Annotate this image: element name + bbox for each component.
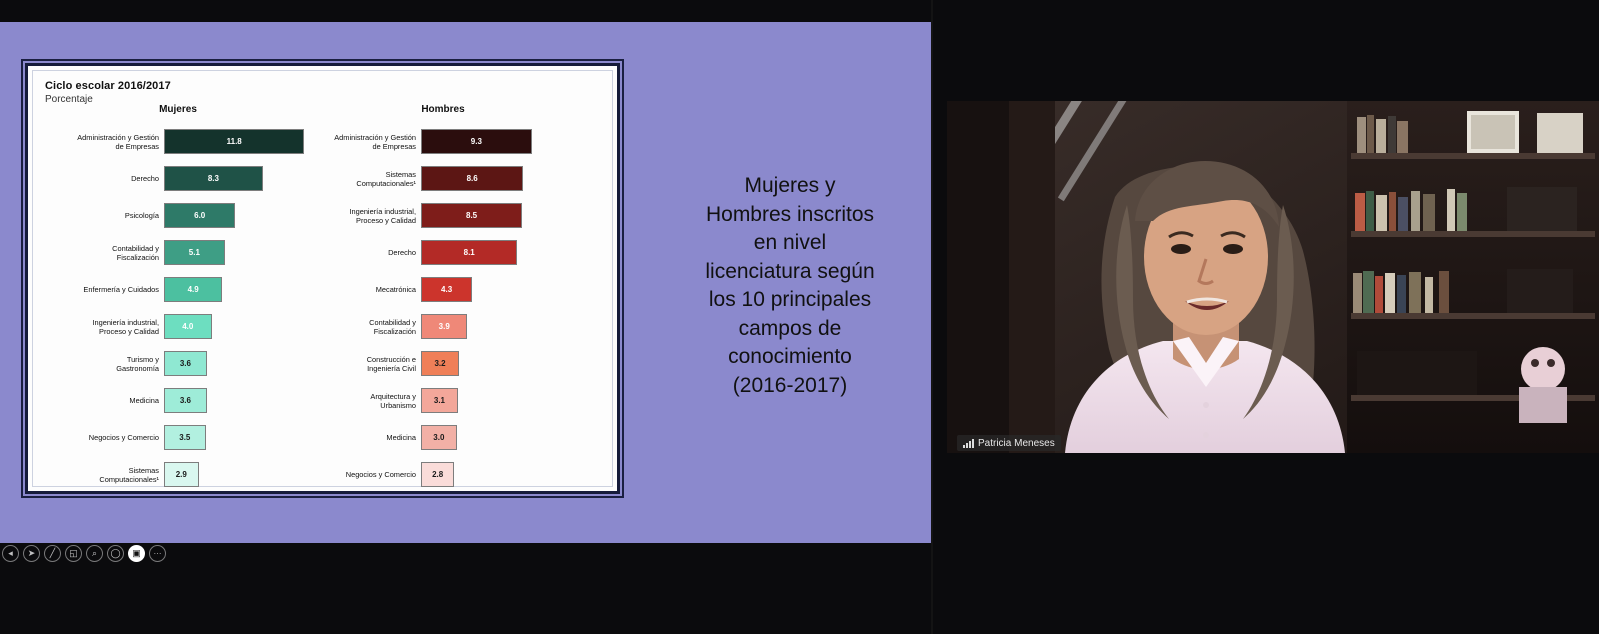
bar: 3.9 xyxy=(421,314,467,339)
bar-value-label: 2.8 xyxy=(432,470,443,479)
caption-line: los 10 principales xyxy=(655,286,925,315)
bar-row: Administración y Gestión de Empresas9.3 xyxy=(333,123,623,160)
video-frame-image xyxy=(947,101,1599,453)
bar: 8.1 xyxy=(421,240,517,265)
bar-row: Turismo y Gastronomía3.6 xyxy=(37,345,329,382)
bar-category-label: Construcción e Ingeniería Civil xyxy=(333,355,421,373)
bar-value-label: 9.3 xyxy=(471,137,482,146)
bar: 3.6 xyxy=(164,388,207,413)
bar-category-label: Contabilidad y Fiscalización xyxy=(37,244,164,262)
bar-value-label: 3.2 xyxy=(434,359,445,368)
column-header-men: Hombres xyxy=(388,104,498,115)
bar-category-label: Derecho xyxy=(37,174,164,183)
bar-row: Medicina3.0 xyxy=(333,419,623,456)
bar: 4.9 xyxy=(164,277,222,302)
pen-icon[interactable]: ╱ xyxy=(44,545,61,562)
slide-title: Ciclo escolar 2016/2017 xyxy=(45,80,171,92)
bar: 11.8 xyxy=(164,129,304,154)
caption-line: Mujeres y xyxy=(655,172,925,201)
bar-row: Negocios y Comercio2.8 xyxy=(333,456,623,493)
bar-category-label: Ingeniería industrial, Proceso y Calidad xyxy=(37,318,164,336)
more-icon[interactable]: ··· xyxy=(149,545,166,562)
bar-row: Arquitectura y Urbanismo3.1 xyxy=(333,382,623,419)
bar: 3.1 xyxy=(421,388,458,413)
bar-row: Construcción e Ingeniería Civil3.2 xyxy=(333,345,623,382)
column-header-women: Mujeres xyxy=(123,104,233,115)
bar: 3.2 xyxy=(421,351,459,376)
bar: 4.3 xyxy=(421,277,472,302)
bar: 5.1 xyxy=(164,240,225,265)
caption-line: (2016-2017) xyxy=(655,372,925,401)
zoom-icon[interactable]: ⌕ xyxy=(86,545,103,562)
participant-name: Patricia Meneses xyxy=(978,438,1055,449)
bar-value-label: 8.1 xyxy=(464,248,475,257)
bar-value-label: 8.6 xyxy=(467,174,478,183)
bar-row: Contabilidad y Fiscalización5.1 xyxy=(37,234,329,271)
bar-value-label: 3.9 xyxy=(439,322,450,331)
bar-value-label: 3.0 xyxy=(433,433,444,442)
annotation-toolbar[interactable]: ◂➤╱◱⌕◯▣··· xyxy=(2,542,166,564)
video-pane[interactable]: Patricia Meneses xyxy=(933,0,1599,634)
bar-row: Derecho8.1 xyxy=(333,234,623,271)
bar-category-label: Administración y Gestión de Empresas xyxy=(37,133,164,151)
bar: 3.5 xyxy=(164,425,206,450)
bar: 3.0 xyxy=(421,425,457,450)
shape-icon[interactable]: ◯ xyxy=(107,545,124,562)
bar-row: Sistemas Computacionales¹2.9 xyxy=(37,456,329,493)
bar-panel-women: Administración y Gestión de Empresas11.8… xyxy=(37,123,329,493)
bar-category-label: Psicología xyxy=(37,211,164,220)
bar-value-label: 3.6 xyxy=(180,359,191,368)
bar-row: Sistemas Computacionales¹8.6 xyxy=(333,160,623,197)
bar-value-label: 4.9 xyxy=(188,285,199,294)
bar-category-label: Sistemas Computacionales¹ xyxy=(333,170,421,188)
bar: 8.3 xyxy=(164,166,263,191)
bar-category-label: Sistemas Computacionales¹ xyxy=(37,466,164,484)
bar-category-label: Mecatrónica xyxy=(333,285,421,294)
bar-panel-men: Administración y Gestión de Empresas9.3S… xyxy=(333,123,623,493)
back-icon[interactable]: ◂ xyxy=(2,545,19,562)
bar-value-label: 6.0 xyxy=(194,211,205,220)
participant-video-tile[interactable]: Patricia Meneses xyxy=(947,101,1599,453)
bar-row: Administración y Gestión de Empresas11.8 xyxy=(37,123,329,160)
signal-bars-icon xyxy=(963,439,974,448)
bar-category-label: Medicina xyxy=(333,433,421,442)
bar-category-label: Enfermería y Cuidados xyxy=(37,285,164,294)
bar-value-label: 3.5 xyxy=(179,433,190,442)
bar: 8.5 xyxy=(421,203,522,228)
bar-row: Psicología6.0 xyxy=(37,197,329,234)
bar-row: Enfermería y Cuidados4.9 xyxy=(37,271,329,308)
caption-line: Hombres inscritos xyxy=(655,201,925,230)
bar-category-label: Negocios y Comercio xyxy=(37,433,164,442)
bar-category-label: Derecho xyxy=(333,248,421,257)
bar: 2.8 xyxy=(421,462,454,487)
bar-row: Mecatrónica4.3 xyxy=(333,271,623,308)
eraser-icon[interactable]: ◱ xyxy=(65,545,82,562)
caption-line: en nivel xyxy=(655,229,925,258)
bar-category-label: Negocios y Comercio xyxy=(333,470,421,479)
bar-row: Ingeniería industrial, Proceso y Calidad… xyxy=(333,197,623,234)
bar-category-label: Medicina xyxy=(37,396,164,405)
bar: 4.0 xyxy=(164,314,212,339)
bar-row: Medicina3.6 xyxy=(37,382,329,419)
slide-subtitle: Porcentaje xyxy=(45,94,93,105)
bar: 6.0 xyxy=(164,203,235,228)
video-icon[interactable]: ▣ xyxy=(128,545,145,562)
bar: 3.6 xyxy=(164,351,207,376)
bar-value-label: 11.8 xyxy=(227,137,242,146)
bar-category-label: Arquitectura y Urbanismo xyxy=(333,392,421,410)
bar-value-label: 4.0 xyxy=(182,322,193,331)
bar-row: Ingeniería industrial, Proceso y Calidad… xyxy=(37,308,329,345)
bar: 9.3 xyxy=(421,129,532,154)
caption-line: campos de xyxy=(655,315,925,344)
bar-category-label: Turismo y Gastronomía xyxy=(37,355,164,373)
presentation-slide: Ciclo escolar 2016/2017 Porcentaje Mujer… xyxy=(25,63,620,494)
bar-category-label: Contabilidad y Fiscalización xyxy=(333,318,421,336)
shared-screen-pane[interactable]: Ciclo escolar 2016/2017 Porcentaje Mujer… xyxy=(0,22,931,543)
bar-value-label: 4.3 xyxy=(441,285,452,294)
bar: 8.6 xyxy=(421,166,523,191)
bar-row: Derecho8.3 xyxy=(37,160,329,197)
slide-content: Ciclo escolar 2016/2017 Porcentaje Mujer… xyxy=(32,70,613,487)
bar-value-label: 2.9 xyxy=(176,470,187,479)
caption-line: conocimiento xyxy=(655,343,925,372)
caption-line: licenciatura según xyxy=(655,258,925,287)
bar: 2.9 xyxy=(164,462,199,487)
bar-value-label: 8.5 xyxy=(466,211,477,220)
bar-value-label: 5.1 xyxy=(189,248,200,257)
cursor-icon[interactable]: ➤ xyxy=(23,545,40,562)
bar-row: Contabilidad y Fiscalización3.9 xyxy=(333,308,623,345)
bar-category-label: Administración y Gestión de Empresas xyxy=(333,133,421,151)
bar-value-label: 3.6 xyxy=(180,396,191,405)
bar-category-label: Ingeniería industrial, Proceso y Calidad xyxy=(333,207,421,225)
participant-name-badge: Patricia Meneses xyxy=(957,435,1061,451)
bar-row: Negocios y Comercio3.5 xyxy=(37,419,329,456)
slide-caption: Mujeres yHombres inscritosen nivellicenc… xyxy=(655,172,925,400)
bar-value-label: 3.1 xyxy=(434,396,445,405)
screen-root: Ciclo escolar 2016/2017 Porcentaje Mujer… xyxy=(0,0,1599,634)
bar-value-label: 8.3 xyxy=(208,174,219,183)
